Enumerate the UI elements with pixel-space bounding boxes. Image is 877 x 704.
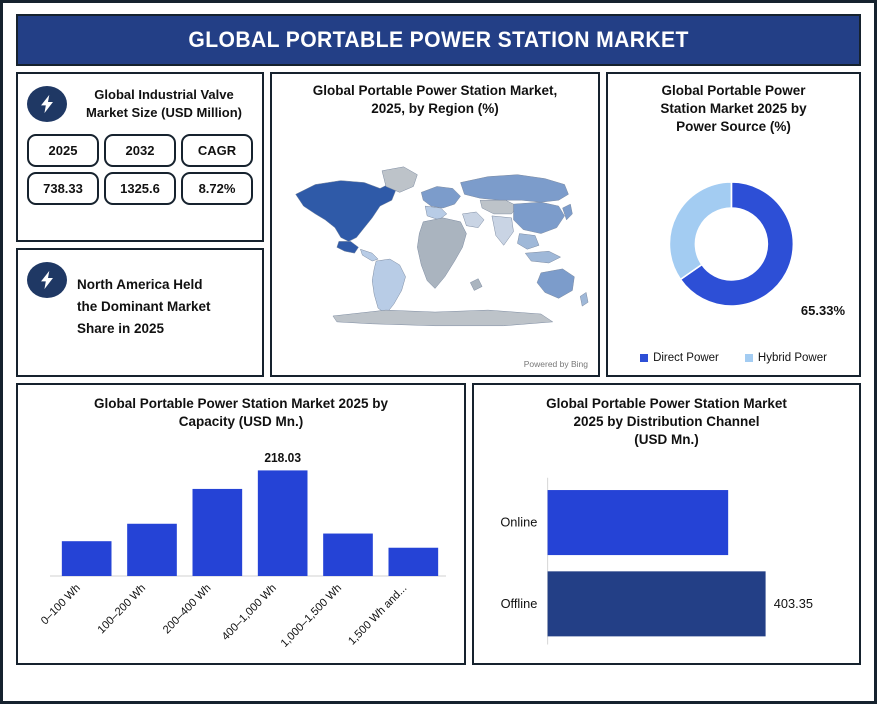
market-size-card: Global Industrial Valve Market Size (USD…: [16, 72, 264, 242]
market-size-title-line2: Market Size (USD Million): [75, 104, 253, 122]
capacity-chart-title-line1: Global Portable Power Station Market 202…: [26, 395, 456, 413]
power-source-title-line2: Station Market 2025 by: [616, 100, 851, 118]
svg-text:200–400 Wh: 200–400 Wh: [161, 582, 213, 636]
svg-text:1,500 Wh and...: 1,500 Wh and...: [346, 582, 409, 648]
dominant-region-line3: Share in 2025: [77, 318, 211, 340]
donut-chart: 65.33%: [616, 136, 851, 352]
donut-legend: Direct Power Hybrid Power: [616, 352, 851, 369]
svg-text:Offline: Offline: [501, 596, 538, 611]
svg-text:403.35: 403.35: [774, 596, 813, 611]
value-cell-2032: 1325.6: [104, 172, 176, 205]
value-cell-cagr: 8.72%: [181, 172, 253, 205]
power-source-title-line1: Global Portable Power: [616, 82, 851, 100]
capacity-chart-panel: Global Portable Power Station Market 202…: [16, 383, 466, 665]
market-size-title: Global Industrial Valve Market Size (USD…: [75, 84, 253, 122]
header-cell-cagr: CAGR: [181, 134, 253, 167]
bolt-icon: [27, 262, 67, 298]
value-cell-2025: 738.33: [27, 172, 99, 205]
legend-item-direct-power: Direct Power: [640, 352, 719, 364]
legend-label-direct-power: Direct Power: [653, 352, 719, 364]
region-map-title-line2: 2025, by Region (%): [278, 100, 592, 118]
dominant-region-line2: the Dominant Market: [77, 296, 211, 318]
page-title: GLOBAL PORTABLE POWER STATION MARKET: [188, 27, 688, 53]
power-source-panel: Global Portable Power Station Market 202…: [606, 72, 861, 377]
svg-text:1,000–1,500 Wh: 1,000–1,500 Wh: [279, 582, 344, 650]
capacity-chart-body: 0–100 Wh100–200 Wh200–400 Wh218.03400–1,…: [26, 439, 456, 657]
dominant-region-line1: North America Held: [77, 274, 211, 296]
legend-item-hybrid-power: Hybrid Power: [745, 352, 827, 364]
infographic-page: GLOBAL PORTABLE POWER STATION MARKET Glo…: [0, 0, 877, 704]
map-attribution: Powered by Bing: [524, 359, 588, 369]
dominant-region-card: North America Held the Dominant Market S…: [16, 248, 264, 377]
power-source-title: Global Portable Power Station Market 202…: [616, 82, 851, 136]
legend-label-hybrid-power: Hybrid Power: [758, 352, 827, 364]
svg-text:400–1,000 Wh: 400–1,000 Wh: [220, 582, 279, 643]
svg-text:100–200 Wh: 100–200 Wh: [96, 582, 148, 636]
distribution-chart-body: OnlineOffline403.35: [482, 459, 851, 657]
donut-value-label: 65.33%: [801, 303, 845, 318]
distribution-chart-title: Global Portable Power Station Market 202…: [482, 395, 851, 449]
region-map-panel: Global Portable Power Station Market, 20…: [270, 72, 600, 377]
distribution-chart-title-line1: Global Portable Power Station Market: [482, 395, 851, 413]
svg-text:Online: Online: [500, 515, 537, 530]
market-size-header: Global Industrial Valve Market Size (USD…: [27, 84, 253, 122]
power-source-title-line3: Power Source (%): [616, 118, 851, 136]
region-map-title-line1: Global Portable Power Station Market,: [278, 82, 592, 100]
distribution-chart-panel: Global Portable Power Station Market 202…: [472, 383, 861, 665]
page-header: GLOBAL PORTABLE POWER STATION MARKET: [16, 14, 861, 66]
distribution-chart-title-line3: (USD Mn.): [482, 431, 851, 449]
market-size-value-row: 738.33 1325.6 8.72%: [27, 172, 253, 205]
top-row: Global Industrial Valve Market Size (USD…: [16, 72, 861, 377]
bottom-row: Global Portable Power Station Market 202…: [16, 383, 861, 665]
bolt-icon: [27, 86, 67, 122]
market-size-title-line1: Global Industrial Valve: [75, 86, 253, 104]
capacity-chart-title-line2: Capacity (USD Mn.): [26, 413, 456, 431]
distribution-chart-title-line2: 2025 by Distribution Channel: [482, 413, 851, 431]
capacity-chart-title: Global Portable Power Station Market 202…: [26, 395, 456, 431]
legend-swatch-direct-power: [640, 354, 648, 362]
header-cell-2032: 2032: [104, 134, 176, 167]
legend-swatch-hybrid-power: [745, 354, 753, 362]
svg-text:218.03: 218.03: [264, 451, 301, 465]
world-map: [278, 126, 592, 347]
dominant-region-text: North America Held the Dominant Market S…: [77, 260, 211, 340]
region-map-title: Global Portable Power Station Market, 20…: [278, 82, 592, 118]
market-size-table: 2025 2032 CAGR 738.33 1325.6 8.72%: [27, 134, 253, 205]
header-cell-2025: 2025: [27, 134, 99, 167]
svg-text:0–100 Wh: 0–100 Wh: [39, 582, 83, 627]
market-size-header-row: 2025 2032 CAGR: [27, 134, 253, 167]
left-column: Global Industrial Valve Market Size (USD…: [16, 72, 264, 377]
